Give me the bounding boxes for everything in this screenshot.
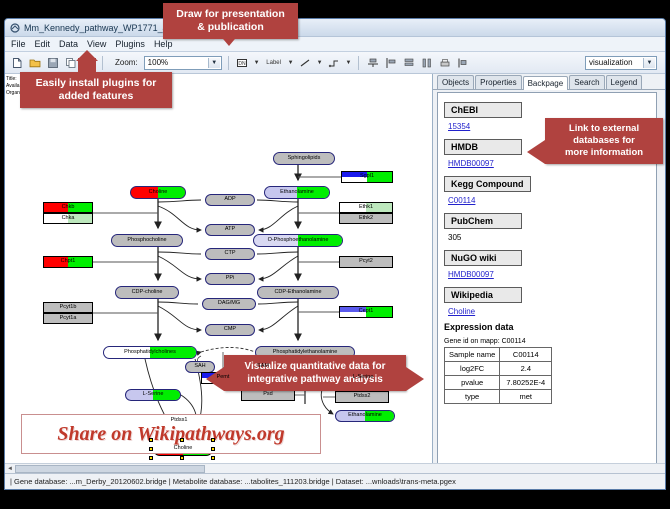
database-block-nugo: NuGO wiki HMDB00097: [444, 248, 650, 279]
node-label: CMP: [224, 327, 236, 333]
tab-properties[interactable]: Properties: [475, 75, 521, 89]
node-label: SAM: [257, 364, 269, 370]
table-row: Sample name C00114: [445, 348, 552, 362]
cell-key: type: [445, 390, 500, 404]
new-file-icon[interactable]: [9, 55, 24, 70]
node-label: DAG/MG: [218, 301, 240, 307]
cell-value: 2.4: [500, 362, 552, 376]
node-label: ATP: [225, 227, 235, 233]
metabolite-node[interactable]: Ethanolamine: [335, 410, 395, 422]
database-link[interactable]: Choline: [448, 307, 650, 316]
database-name: Wikipedia: [444, 287, 522, 303]
open-folder-icon[interactable]: [27, 55, 42, 70]
gene-node[interactable]: Ethk1: [339, 202, 393, 213]
metabolite-node[interactable]: O-Phosphoethanolamine: [253, 234, 343, 247]
node-label: Chpt1: [61, 259, 76, 265]
gene-node[interactable]: Chkb: [43, 202, 93, 213]
distribute-vertical-icon[interactable]: [419, 55, 434, 70]
cofactor-node[interactable]: ADP: [205, 194, 255, 206]
expression-data-table: Sample name C00114 log2FC 2.4 pvalue 7.8…: [444, 347, 552, 404]
node-label: ADP: [224, 197, 235, 203]
gene-node[interactable]: Pcyt1b: [43, 302, 93, 313]
share-banner-text: Share on Wikipathways.org: [57, 423, 284, 446]
datanode-dropdown-icon[interactable]: ▼: [253, 60, 261, 66]
cell-key: log2FC: [445, 362, 500, 376]
metabolite-node[interactable]: L-Serine: [125, 389, 181, 401]
toolbar-separator: [102, 56, 103, 70]
side-panel-tabs: Objects Properties Backpage Search Legen…: [433, 74, 665, 90]
selection-handle[interactable]: [149, 438, 153, 442]
cofactor-node[interactable]: CTP: [205, 248, 255, 260]
database-name: Kegg Compound: [444, 176, 531, 192]
label-icon[interactable]: Label: [264, 55, 284, 70]
selection-handle[interactable]: [211, 447, 215, 451]
expression-data-title: Expression data: [444, 322, 650, 332]
menu-item-help[interactable]: Help: [154, 39, 173, 49]
cell-value: met: [500, 390, 552, 404]
title-bar: Mm_Kennedy_pathway_WP1771_45176.gpml: [5, 19, 665, 37]
tab-backpage[interactable]: Backpage: [523, 76, 569, 90]
database-block-pubchem: PubChem 305: [444, 211, 650, 242]
tab-search[interactable]: Search: [569, 75, 604, 89]
selection-handle[interactable]: [211, 456, 215, 460]
status-bar: | Gene database: ...m_Derby_20120602.bri…: [5, 473, 665, 489]
menu-item-view[interactable]: View: [87, 39, 106, 49]
node-label: L-Serine: [353, 375, 374, 381]
visualization-value: visualization: [589, 58, 633, 67]
gene-node[interactable]: Chpt1: [43, 256, 93, 268]
node-label: Choline: [174, 446, 193, 452]
tool-bar: Zoom: 100% ▼ DN ▼ Label ▼ ▼ ▼: [5, 52, 665, 74]
gene-node[interactable]: Cept1: [339, 306, 393, 318]
node-label: Sgpl1: [360, 174, 374, 180]
gene-node[interactable]: Ptdss2: [335, 391, 389, 403]
menu-bar: File Edit Data View Plugins Help: [5, 37, 665, 52]
node-label: O-Phosphoethanolamine: [268, 238, 329, 244]
table-row: type met: [445, 390, 552, 404]
metabolite-node[interactable]: Phosphocholine: [111, 234, 183, 247]
database-block-wikipedia: Wikipedia Choline: [444, 285, 650, 316]
selection-handle[interactable]: [149, 447, 153, 451]
metabolite-node[interactable]: CDP-Ethanolamine: [257, 286, 339, 299]
node-label: Pemt: [217, 375, 230, 381]
stack-icon[interactable]: [437, 55, 452, 70]
metabolite-node[interactable]: Phosphatidylcholines: [103, 346, 197, 359]
zoom-label: Zoom:: [115, 58, 138, 67]
toolbar-separator: [358, 56, 359, 70]
visualization-combobox[interactable]: visualization ▼: [585, 56, 657, 70]
connector-icon[interactable]: [327, 55, 342, 70]
node-label: Ethanolamine: [280, 190, 314, 196]
save-icon[interactable]: [45, 55, 60, 70]
node-label: Pcyt1b: [60, 305, 77, 311]
pathway-canvas[interactable]: Title: Availa Organi: [5, 74, 433, 469]
cofactor-node[interactable]: PPi: [205, 273, 255, 285]
table-row: log2FC 2.4: [445, 362, 552, 376]
database-link[interactable]: C00114: [448, 196, 650, 205]
tab-legend[interactable]: Legend: [606, 75, 643, 89]
tab-objects[interactable]: Objects: [437, 75, 474, 89]
cofactor-node[interactable]: CMP: [205, 324, 255, 336]
metabolite-node[interactable]: Choline: [130, 186, 186, 199]
node-label: Ptdss2: [354, 394, 371, 400]
node-label: Choline: [149, 190, 168, 196]
selection-handle[interactable]: [180, 438, 184, 442]
database-link[interactable]: HMDB00097: [448, 270, 650, 279]
menu-item-edit[interactable]: Edit: [35, 39, 51, 49]
selection-handle[interactable]: [180, 456, 184, 460]
node-label: SAH: [194, 364, 205, 370]
gene-id-label: Gene id on mapp: C00114: [444, 338, 650, 345]
line-icon[interactable]: [298, 55, 313, 70]
database-name: PubChem: [444, 213, 522, 229]
gene-node[interactable]: Chka: [43, 213, 93, 224]
toolbar-separator: [228, 56, 229, 70]
menu-item-data[interactable]: Data: [59, 39, 78, 49]
chevron-down-icon[interactable]: ▼: [208, 58, 220, 68]
scroll-left-icon[interactable]: ◄: [5, 466, 15, 472]
metabolite-node[interactable]: Sphingolipids: [273, 152, 335, 165]
scrollbar-thumb[interactable]: [15, 465, 205, 473]
selection-handle[interactable]: [149, 456, 153, 460]
menu-item-plugins[interactable]: Plugins: [115, 39, 145, 49]
zoom-combobox[interactable]: 100% ▼: [144, 56, 222, 70]
metabolite-node[interactable]: Ethanolamine: [264, 186, 330, 199]
node-label: Ethk2: [359, 216, 373, 222]
callout-arrow-up-icon: [76, 50, 98, 61]
node-label: Chkb: [62, 205, 75, 211]
gene-node[interactable]: Ethk2: [339, 213, 393, 224]
callout-arrow-left-icon: [527, 140, 545, 164]
chevron-down-icon[interactable]: ▼: [643, 58, 655, 68]
callout-text: Link to external databases for more info…: [565, 123, 643, 158]
node-label: L-Serine: [143, 392, 164, 398]
database-value: 305: [448, 233, 650, 242]
callout-text: Draw for presentation & publication: [176, 8, 285, 33]
database-name: HMDB: [444, 139, 522, 155]
node-label: CDP-Ethanolamine: [274, 290, 321, 296]
node-label: Phosphatidylcholines: [124, 350, 176, 356]
node-label: Phosphocholine: [127, 238, 166, 244]
distribute-horizontal-icon[interactable]: [401, 55, 416, 70]
connector-dropdown-icon[interactable]: ▼: [345, 60, 353, 66]
node-label: Pcyt2: [359, 259, 373, 265]
cofactor-node[interactable]: ATP: [205, 224, 255, 236]
node-label: Chka: [62, 216, 75, 222]
callout-plugins: Easily install plugins for added feature…: [20, 72, 172, 108]
node-label: Ptdss1: [171, 418, 188, 424]
callout-text: Easily install plugins for added feature…: [36, 77, 157, 102]
selection-handle[interactable]: [211, 438, 215, 442]
cell-key: Sample name: [445, 348, 500, 362]
node-label: CDP-choline: [132, 290, 163, 296]
node-label: Psd: [263, 392, 272, 398]
align-center-icon[interactable]: [365, 55, 380, 70]
database-name: NuGO wiki: [444, 250, 522, 266]
label-dropdown-icon[interactable]: ▼: [287, 60, 295, 66]
svg-text:DN: DN: [239, 61, 247, 67]
callout-links: Link to external databases for more info…: [545, 118, 663, 164]
node-label: Pcyt1a: [60, 316, 77, 322]
line-dropdown-icon[interactable]: ▼: [316, 60, 324, 66]
node-label: CTP: [225, 251, 236, 257]
database-block-kegg: Kegg Compound C00114: [444, 174, 650, 205]
menu-item-file[interactable]: File: [11, 39, 26, 49]
callout-arrow-down-icon: [218, 33, 240, 46]
horizontal-scrollbar[interactable]: ◄: [5, 463, 665, 473]
cell-value: 7.80252E-4: [500, 376, 552, 390]
callout-visualize: Visualize quantitative data for integrat…: [224, 355, 406, 391]
node-label: PPi: [226, 276, 235, 282]
node-label: Ethk1: [359, 205, 373, 211]
table-row: pvalue 7.80252E-4: [445, 376, 552, 390]
order-icon[interactable]: [455, 55, 470, 70]
node-label: Sphingolipids: [288, 156, 321, 162]
status-text: | Gene database: ...m_Derby_20120602.bri…: [10, 477, 456, 486]
gene-node[interactable]: Pcyt2: [339, 256, 393, 268]
gene-node[interactable]: Pcyt1a: [43, 313, 93, 324]
gene-node[interactable]: Sgpl1: [341, 171, 393, 183]
cell-key: pvalue: [445, 376, 500, 390]
app-icon: [10, 23, 20, 33]
node-label: Phosphatidylethanolamine: [273, 350, 338, 356]
node-label: Ethanolamine: [348, 413, 382, 419]
callout-arrow-right-icon: [406, 367, 424, 391]
metabolite-node[interactable]: CDP-choline: [115, 286, 179, 299]
database-name: ChEBI: [444, 102, 522, 118]
cofactor-node[interactable]: DAG/MG: [202, 298, 256, 310]
node-label: Cept1: [359, 309, 374, 315]
cell-value: C00114: [500, 348, 552, 362]
datanode-icon[interactable]: DN: [235, 55, 250, 70]
align-left-icon[interactable]: [383, 55, 398, 70]
zoom-value: 100%: [148, 58, 168, 67]
